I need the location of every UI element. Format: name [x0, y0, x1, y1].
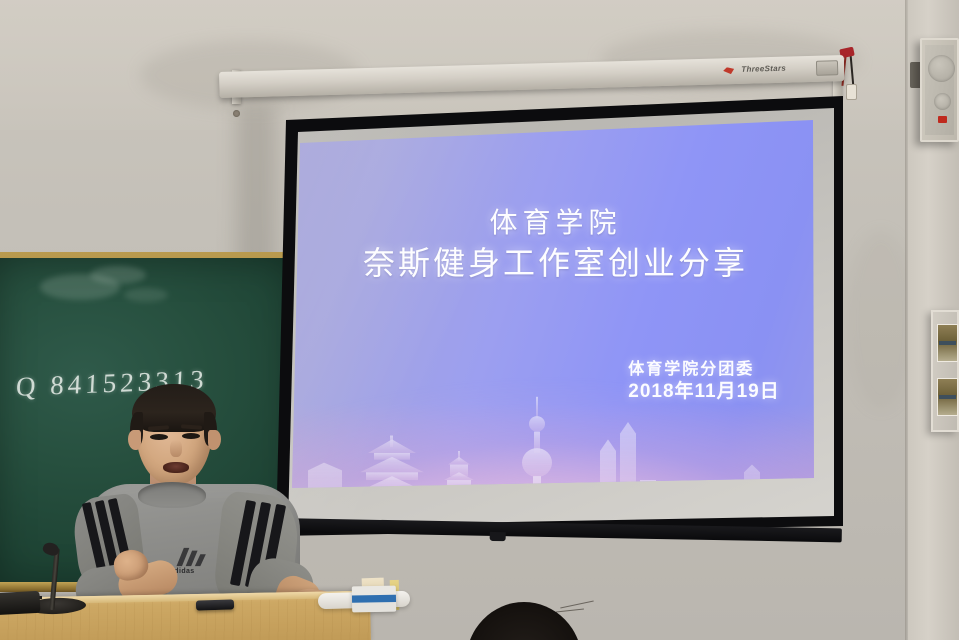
slide-title-line1: 体育学院 [268, 206, 843, 243]
chalk-dust [90, 266, 146, 284]
podium-object-dark[interactable] [0, 591, 41, 615]
podium-phone[interactable] [196, 599, 234, 610]
classroom-photo: Q 841523313 ThreeStars [0, 0, 959, 640]
screen-brand-label: ThreeStars [741, 64, 786, 74]
panel-window-upper [937, 324, 958, 362]
screen-mount-bolt [233, 110, 240, 117]
slide-subtitle-date: 2018年11月19日 [628, 380, 780, 404]
adidas-logo-icon [174, 546, 212, 568]
presenter-collar [138, 482, 206, 508]
slide-title-line2: 奈斯健身工作室创业分享 [268, 243, 843, 285]
slide-title: 体育学院 奈斯健身工作室创业分享 [268, 206, 843, 285]
panel-switch-bar[interactable] [939, 395, 956, 399]
presenter-ear-right [208, 430, 221, 450]
panel-window-lower [937, 378, 958, 416]
podium-object-bluebox[interactable] [352, 586, 396, 613]
wall-electrical-panel[interactable] [931, 310, 959, 432]
cable-connector [846, 84, 857, 100]
speaker-cone-lower [934, 93, 951, 110]
panel-switch-bar[interactable] [939, 341, 956, 345]
chalk-dust [124, 288, 168, 302]
presenter-eye-left [150, 434, 168, 440]
screen-pull-tab[interactable] [490, 532, 506, 541]
speaker-indicator-icon [938, 116, 947, 123]
screen-housing-endcap [816, 60, 838, 76]
slide-subtitle: 体育学院分团委 2018年11月19日 [628, 360, 780, 403]
threestars-logo-icon [723, 67, 734, 74]
wall-speaker [920, 38, 959, 142]
presenter-eye-right [182, 433, 200, 439]
slide-subtitle-org: 体育学院分团委 [628, 360, 780, 380]
speaker-cone-upper [928, 55, 955, 82]
presenter-mouth [163, 462, 189, 473]
presenter-nose [170, 440, 182, 457]
presenter-ear-left [128, 430, 141, 450]
